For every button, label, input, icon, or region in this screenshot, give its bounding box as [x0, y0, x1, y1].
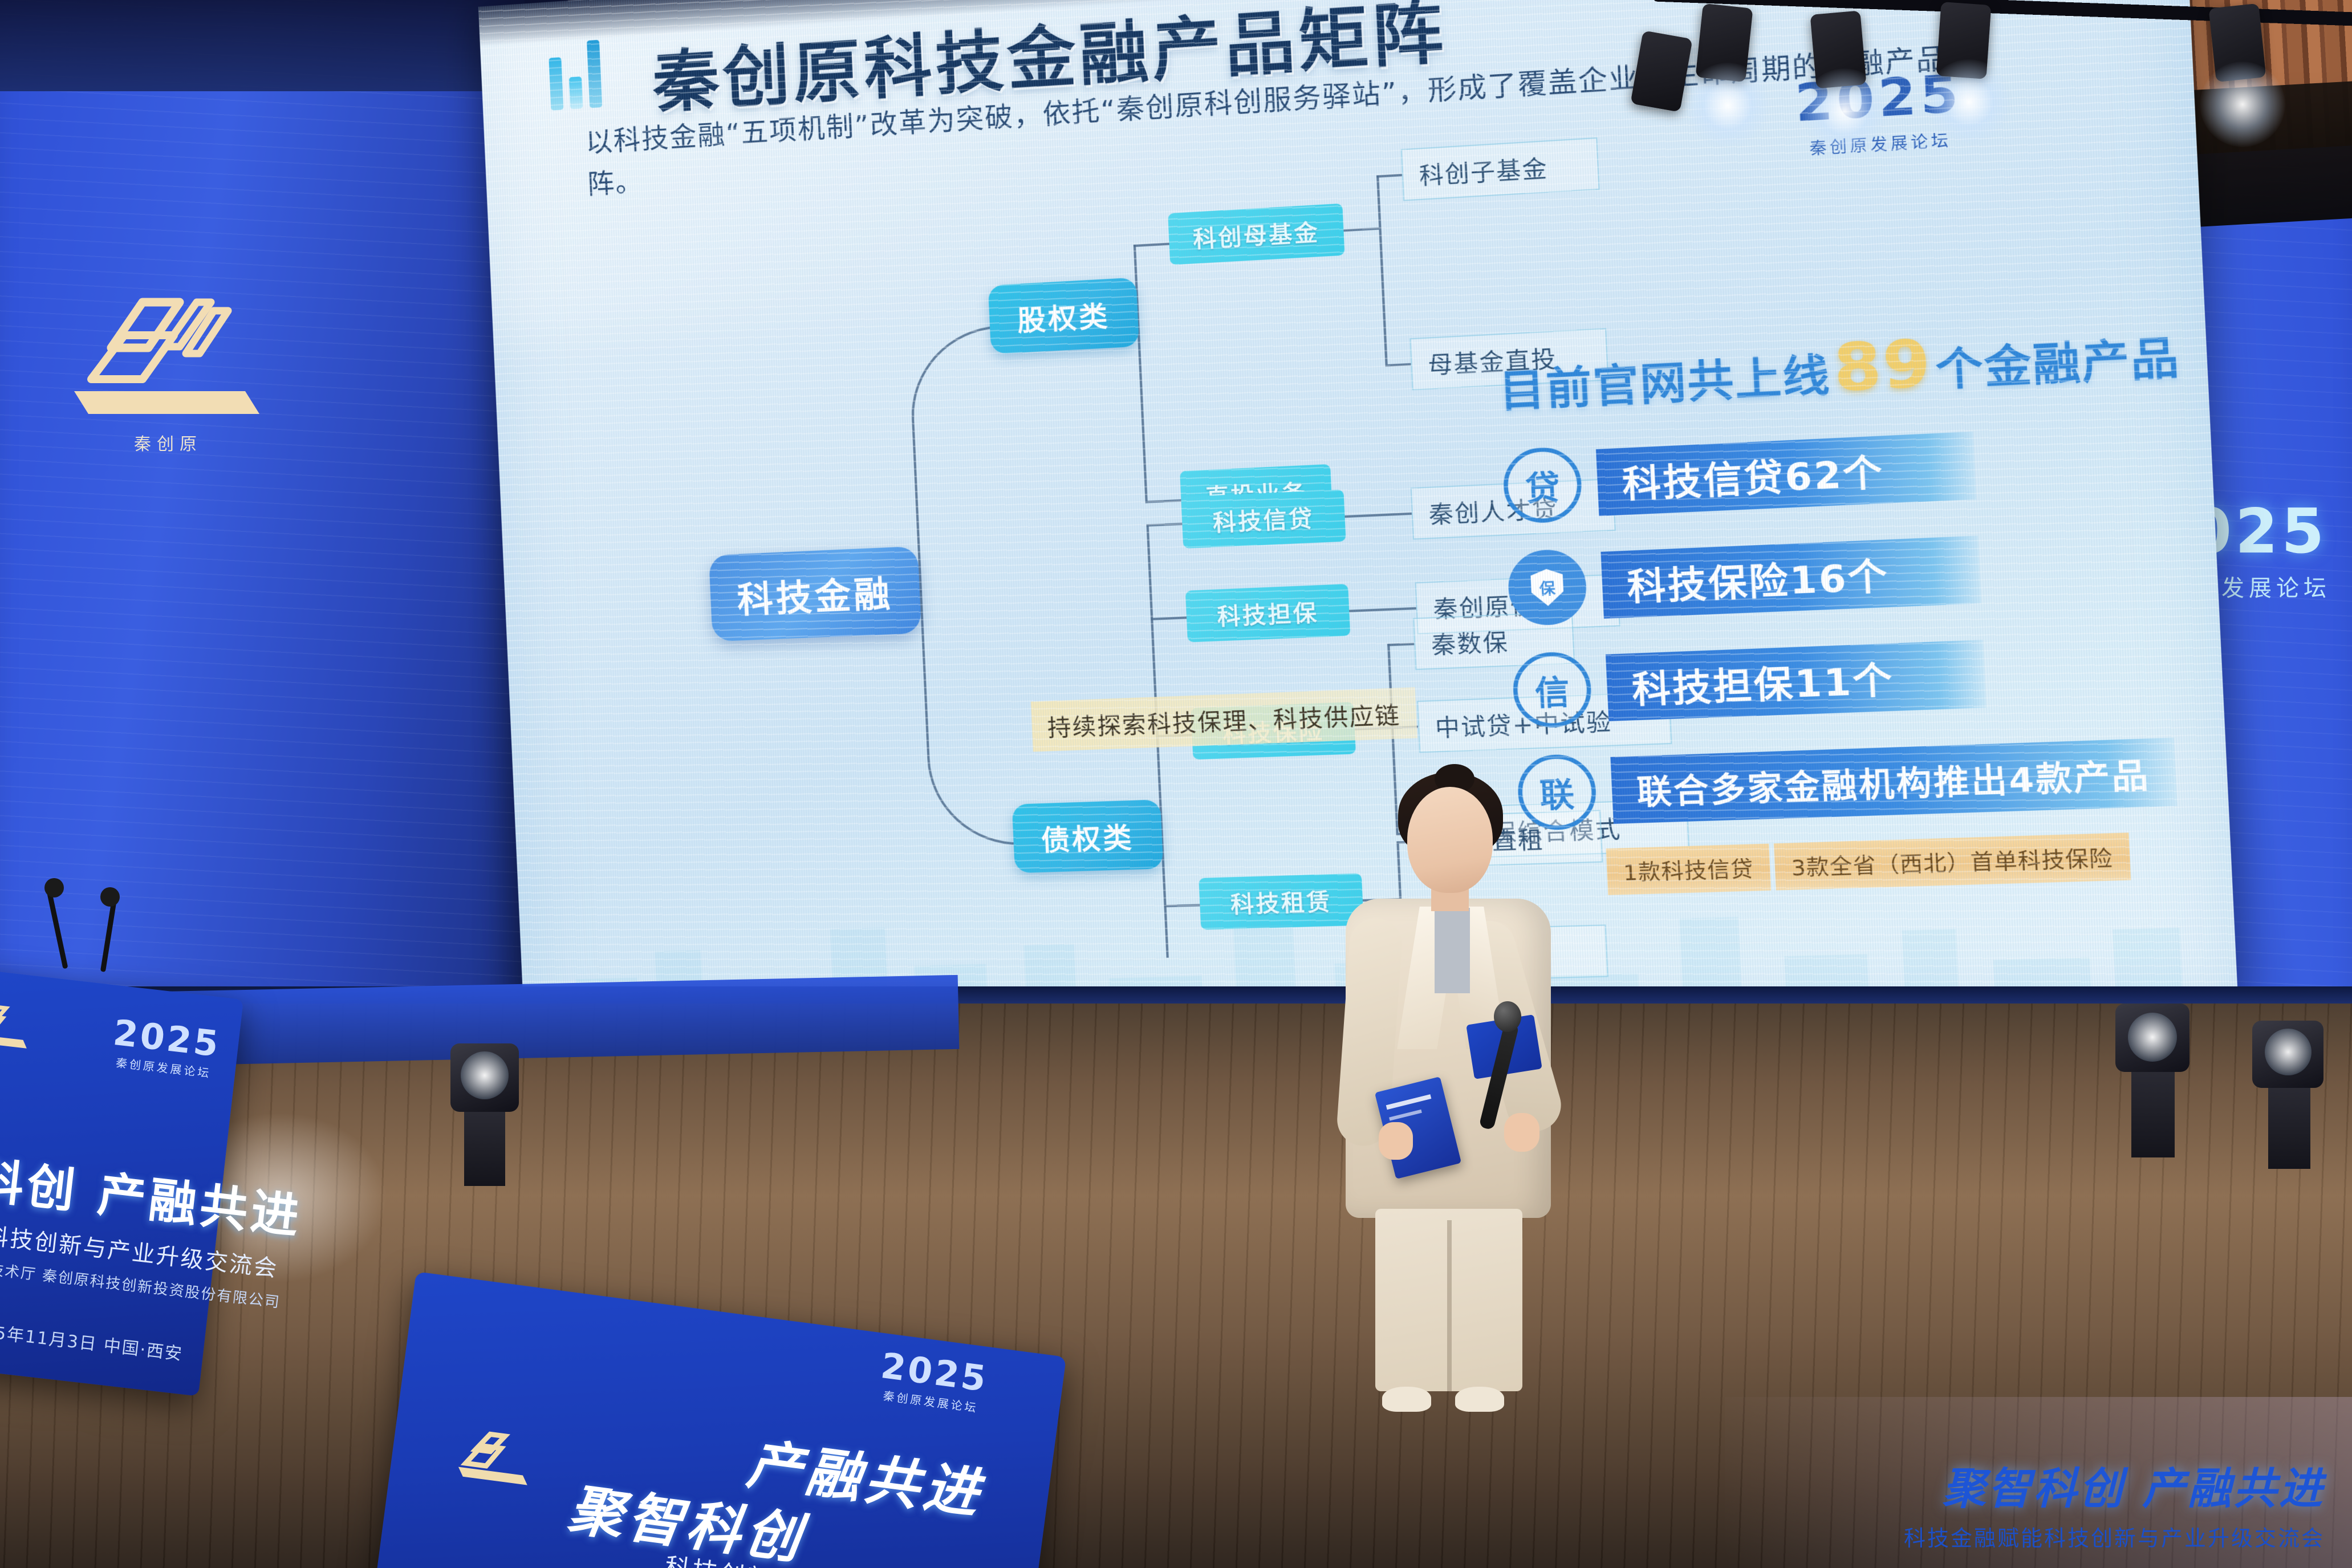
- podium-left-logo-icon: [0, 997, 36, 1050]
- moving-head-light: [2241, 1021, 2349, 1169]
- mindmap-leaf-kechuangzijijin[interactable]: 科创子基金: [1401, 137, 1600, 201]
- presentation-photo: 秦创原 2025 秦创原发展论坛 秦创原科技金融产品矩阵 以科技金融“五项机制”…: [0, 0, 2352, 1568]
- stats-panel: 目前官网共上线89个金融产品 贷 科技信贷62个 保 科技保险16个 信: [1497, 314, 2180, 897]
- watermark: 聚智科创 产融共进 科技金融赋能科技创新与产业升级交流会: [1904, 1453, 2325, 1552]
- podium-front-badge: 2025 秦创原发展论坛: [876, 1344, 990, 1416]
- mindmap-node-kejixindai[interactable]: 科技信贷: [1181, 489, 1346, 549]
- watermark-event: 科技金融赋能科技创新与产业升级交流会: [1904, 1521, 2325, 1552]
- left-wall-logo-caption: 秦创原: [57, 430, 279, 455]
- podium-left-datetime: 2025年11月3日 中国·西安: [0, 1315, 184, 1365]
- moving-head-light: [2098, 1004, 2212, 1163]
- bar-chart-logo-icon: [548, 38, 614, 110]
- podium-left-badge: 2025 秦创原发展论坛: [109, 1012, 223, 1082]
- microphone-head-icon: [44, 878, 64, 897]
- microphone-head-icon: [100, 887, 120, 907]
- left-wall-panel: [0, 0, 525, 1083]
- presenter-head: [1407, 787, 1493, 893]
- stats-row[interactable]: 贷 科技信贷62个: [1502, 419, 2162, 524]
- qinchuangyuan-pyramid-logo: [57, 279, 279, 422]
- stats-row[interactable]: 联 联合多家金融机构推出4款产品: [1516, 733, 2176, 831]
- mindmap-root[interactable]: 科技金融: [709, 546, 921, 641]
- stage-light-glow: [1802, 68, 1887, 154]
- connector-root-equity: [908, 326, 1010, 592]
- moving-head-light: [433, 1043, 536, 1186]
- stats-bar-guarantee: 科技担保11个: [1606, 640, 1987, 721]
- stats-row[interactable]: 信 科技担保11个: [1512, 628, 2172, 729]
- badge-icon-dai: 贷: [1502, 446, 1583, 525]
- stats-headline-number: 89: [1828, 326, 1937, 406]
- left-wall-logo: 秦创原: [57, 279, 279, 462]
- badge-icon-xin: 信: [1512, 651, 1593, 729]
- stage-light-glow: [1685, 63, 1770, 148]
- badge-icon-shield-bao: 保: [1507, 549, 1588, 627]
- presenter: [1323, 764, 1568, 1420]
- watermark-slogan: 聚智科创 产融共进: [1904, 1453, 2325, 1516]
- stats-row[interactable]: 保 科技保险16个: [1507, 523, 2167, 627]
- stage-light-glow: [1926, 59, 2012, 145]
- stage-light-glow: [2200, 62, 2285, 147]
- stats-bar-insurance: 科技保险16个: [1601, 535, 1981, 618]
- mindmap-category-equity[interactable]: 股权类: [988, 277, 1139, 354]
- stats-bar-joint: 联合多家金融机构推出4款产品: [1610, 738, 2177, 824]
- stats-headline-suffix: 个金融产品: [1935, 332, 2182, 396]
- podium-front-logo-icon: [452, 1421, 539, 1488]
- stats-bar-credit: 科技信贷62个: [1596, 432, 1976, 516]
- connector-equity-spine: [1134, 245, 1148, 503]
- mindmap-node-kejidanbao[interactable]: 科技担保: [1185, 584, 1351, 642]
- mindmap-node-keyuanmujijin[interactable]: 科创母基金: [1168, 204, 1344, 265]
- shield-icon: 保: [1530, 568, 1564, 607]
- connector-root-debt: [920, 586, 1022, 847]
- stats-headline-prefix: 目前官网共上线: [1498, 350, 1831, 417]
